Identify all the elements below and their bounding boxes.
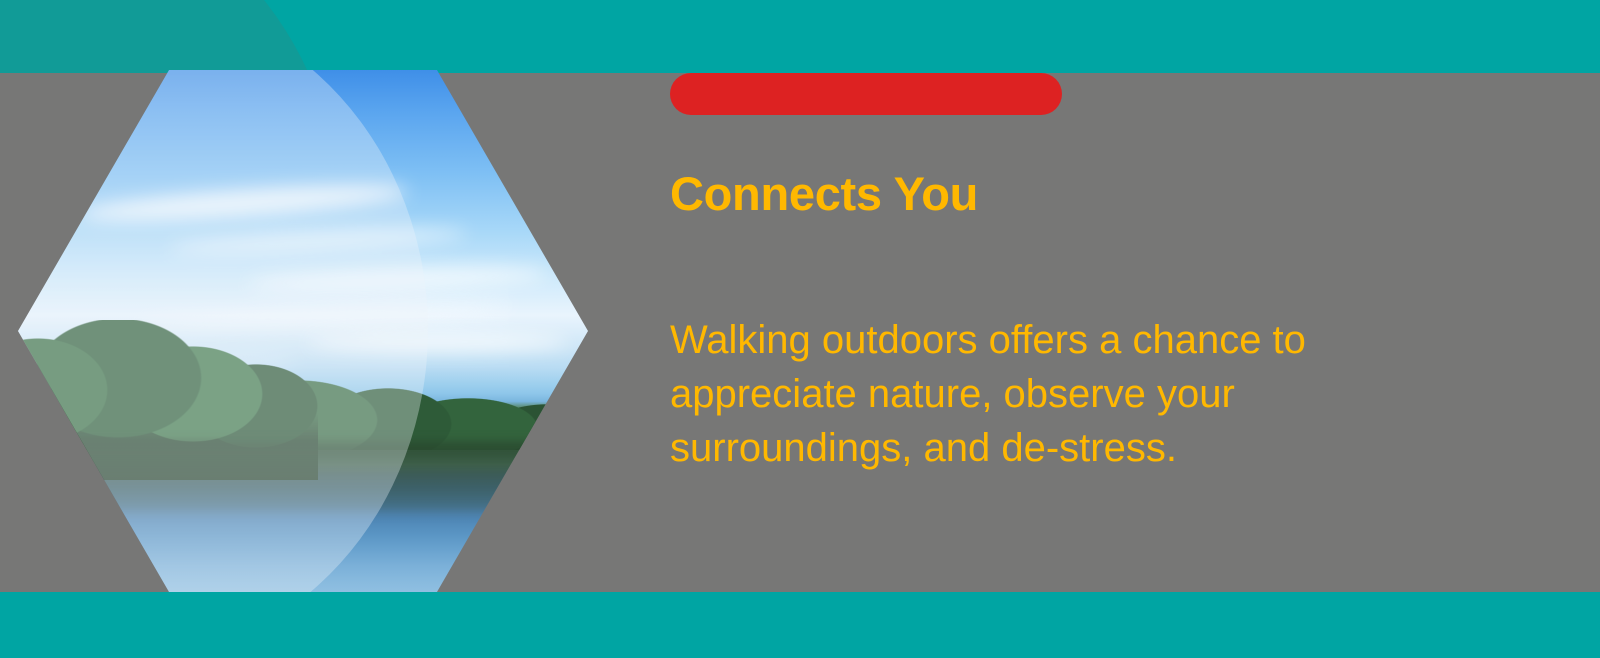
slide-canvas: Connects You Walking outdoors offers a c… [0, 0, 1600, 658]
red-pill-banner[interactable] [670, 73, 1062, 115]
body-paragraph: Walking outdoors offers a chance to appr… [670, 313, 1450, 475]
page-title: Connects You [670, 168, 978, 220]
